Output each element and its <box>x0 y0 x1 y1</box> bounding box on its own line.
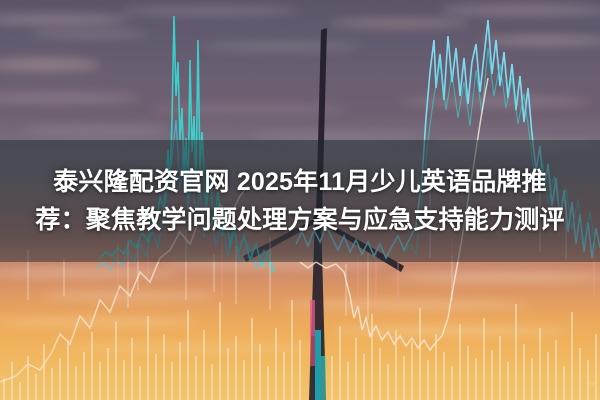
headline-text-block: 泰兴隆配资官网 2025年11月少儿英语品牌推 荐：聚焦教学问题处理方案与应急支… <box>0 140 600 262</box>
turbine-base-accent <box>310 300 315 336</box>
corner-watermark-icon: ◇ <box>589 380 594 388</box>
headline-line-1: 泰兴隆配资官网 2025年11月少儿英语品牌推 <box>53 165 547 199</box>
turbine-base-accent <box>310 336 315 366</box>
turbine-base-accent <box>321 356 326 400</box>
turbine-base-accent <box>315 330 321 400</box>
image-canvas: 泰兴隆配资官网 2025年11月少儿英语品牌推 荐：聚焦教学问题处理方案与应急支… <box>0 0 600 400</box>
headline-line-2: 荐：聚焦教学问题处理方案与应急支持能力测评 <box>35 203 564 237</box>
